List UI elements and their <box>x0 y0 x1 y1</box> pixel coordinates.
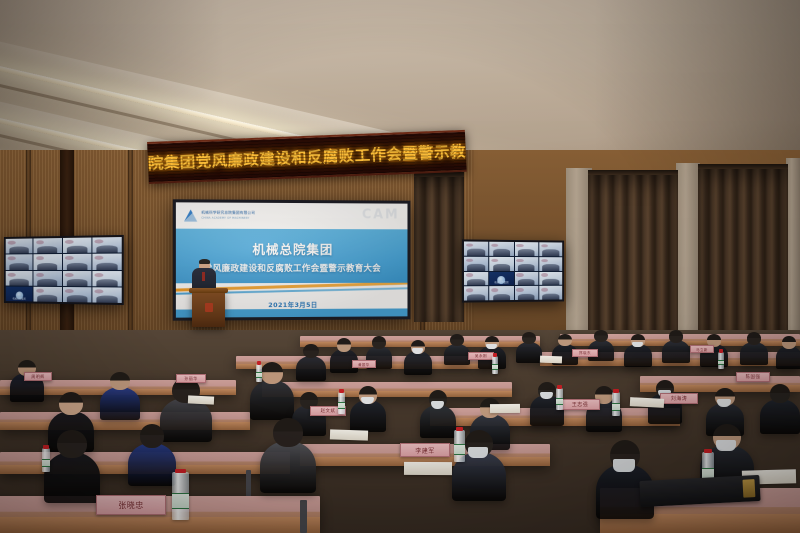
bottle-label <box>492 364 498 370</box>
name-placard: 张晓忠 <box>96 495 166 515</box>
attendee-head <box>594 330 608 342</box>
water-bottle <box>42 448 50 472</box>
water-bottle <box>718 352 724 369</box>
attendee <box>624 344 652 367</box>
video-tile <box>34 270 62 285</box>
notes-paper <box>404 462 452 475</box>
bottle-cap <box>339 389 343 393</box>
name-placard: 周明辉 <box>24 372 52 381</box>
attendee-head <box>450 334 464 346</box>
video-tile <box>62 238 91 254</box>
cam-watermark: CAM <box>362 207 400 222</box>
notes-paper <box>540 356 562 364</box>
name-placard: 吴永刚 <box>468 352 494 360</box>
video-tile <box>539 286 562 300</box>
attendee <box>516 342 542 364</box>
name-placard: 孙丽华 <box>176 374 206 383</box>
attendee-head <box>57 430 86 458</box>
attendee-head <box>558 334 572 346</box>
video-tile <box>464 256 488 270</box>
bottle-label <box>172 493 189 509</box>
attendee-head <box>782 336 796 349</box>
video-wall-right: 机械总院集团 <box>462 239 564 302</box>
attendee <box>44 452 100 502</box>
video-tile <box>62 287 91 303</box>
video-tile <box>464 241 488 255</box>
bottle-cap <box>456 427 463 431</box>
bottle-cap <box>613 389 618 393</box>
video-tile <box>514 286 538 300</box>
video-tile <box>514 257 538 271</box>
video-tile <box>6 238 33 253</box>
speaker-hair <box>199 259 210 264</box>
name-placard: 王志强 <box>560 399 600 410</box>
video-tile <box>489 286 513 300</box>
lectern <box>192 291 225 327</box>
video-tile <box>34 254 62 269</box>
video-tile <box>92 287 122 303</box>
attendee-head <box>522 332 536 344</box>
led-banner-text: 机械总院集团党风廉政建设和反腐败工作会暨警示教育大会 <box>147 138 467 176</box>
bottle-cap <box>493 353 497 357</box>
attendee <box>100 387 140 420</box>
speaker-tie <box>202 272 205 281</box>
bottle-label <box>718 360 724 366</box>
video-wall-left: 机械总院集团 <box>4 235 124 305</box>
video-tile <box>464 272 488 286</box>
bottle-cap <box>257 361 261 365</box>
attendee <box>250 380 294 420</box>
name-placard: 黄振华 <box>352 360 376 368</box>
name-placard: 李建军 <box>400 443 450 457</box>
bottle-label <box>454 444 465 455</box>
name-placard: 郑晓东 <box>572 349 598 357</box>
attendee-head <box>261 362 284 384</box>
video-tile <box>6 254 33 269</box>
video-tile <box>489 257 513 271</box>
face-mask <box>486 344 496 349</box>
notes-paper <box>188 395 214 404</box>
company-logo-icon <box>184 209 197 221</box>
name-placard: 马立新 <box>690 345 714 353</box>
face-mask <box>468 447 488 458</box>
attendee-head <box>747 332 762 345</box>
curtain-panel <box>414 172 464 322</box>
water-bottle <box>172 472 189 520</box>
attendee-head <box>140 424 165 448</box>
bottle-cap <box>43 445 48 449</box>
conference-hall-photo: 机械总院集团党风廉政建设和反腐败工作会暨警示教育大会 机械科学研究总院集团有限公… <box>0 0 800 533</box>
attendee-head <box>273 418 302 447</box>
attendee-head <box>337 338 352 352</box>
video-tile <box>539 242 562 256</box>
notes-paper <box>490 404 520 413</box>
video-tile <box>464 286 488 300</box>
water-bottle <box>454 430 465 462</box>
water-bottle <box>612 392 620 416</box>
video-tile <box>539 271 562 285</box>
slide-title: 机械总院集团 <box>252 238 333 257</box>
attendee <box>776 346 800 369</box>
video-tile <box>34 238 62 253</box>
attendee-head <box>110 372 131 390</box>
bottle-label <box>42 459 50 467</box>
attendee-head <box>669 330 684 343</box>
video-tile <box>514 271 538 285</box>
host-caption: 机械总院集团 <box>6 296 33 300</box>
attendee <box>760 399 800 434</box>
video-tile <box>92 271 122 287</box>
water-bottle <box>556 388 563 410</box>
bottle-label <box>556 398 563 405</box>
attendee <box>350 400 386 432</box>
logo-line-1: 机械科学研究总院集团有限公司 <box>201 211 255 215</box>
lectern-top <box>189 288 228 293</box>
video-tile <box>92 237 122 253</box>
slide-subtitle: 党风廉政建设和反腐败工作会暨警示教育大会 <box>203 261 381 273</box>
face-mask <box>716 440 736 451</box>
attendee-head <box>59 392 83 415</box>
video-tile-host: 机械总院集团 <box>6 286 33 301</box>
attendee <box>662 340 690 363</box>
host-caption: 机械总院集团 <box>489 280 513 284</box>
bottle-cap <box>719 349 723 353</box>
bottle-label <box>256 372 262 378</box>
attendee-head <box>303 344 319 358</box>
face-mask <box>613 459 634 472</box>
attendee-head <box>372 336 386 349</box>
name-placard: 刘海涛 <box>660 393 698 404</box>
bottle-cap <box>557 385 561 389</box>
video-tile-host: 机械总院集团 <box>489 272 513 286</box>
bottle-cap <box>704 449 712 453</box>
bottle-label <box>612 403 620 411</box>
attendee <box>160 398 212 443</box>
company-logo-text: 机械科学研究总院集团有限公司 CHINA ACADEMY OF MACHINER… <box>201 211 255 221</box>
attendee <box>296 356 326 382</box>
water-bottle <box>338 392 345 414</box>
video-tile <box>6 270 33 285</box>
video-tile <box>489 242 513 256</box>
bottle-label <box>338 402 345 409</box>
video-tile <box>92 254 122 270</box>
video-tile <box>62 254 91 269</box>
face-mask <box>632 342 642 347</box>
notes-paper <box>330 429 368 440</box>
desk-leg <box>300 500 307 533</box>
video-tile <box>514 242 538 256</box>
attendee <box>444 344 470 366</box>
attendee <box>740 342 768 365</box>
water-bottle <box>256 364 262 382</box>
logo-line-2: CHINA ACADEMY OF MACHINERY <box>201 217 249 220</box>
video-tile <box>539 257 562 271</box>
attendee-head <box>770 384 791 403</box>
water-bottle <box>492 356 498 374</box>
bottle-cap <box>175 469 186 473</box>
attendee <box>404 351 432 375</box>
desk-row <box>262 382 512 397</box>
attendee <box>260 441 316 493</box>
notes-paper <box>630 397 664 408</box>
video-tile <box>34 287 62 302</box>
attendee <box>128 443 176 486</box>
name-placard: 陈国强 <box>736 372 770 382</box>
attendee <box>420 405 456 438</box>
video-tile <box>62 271 91 286</box>
